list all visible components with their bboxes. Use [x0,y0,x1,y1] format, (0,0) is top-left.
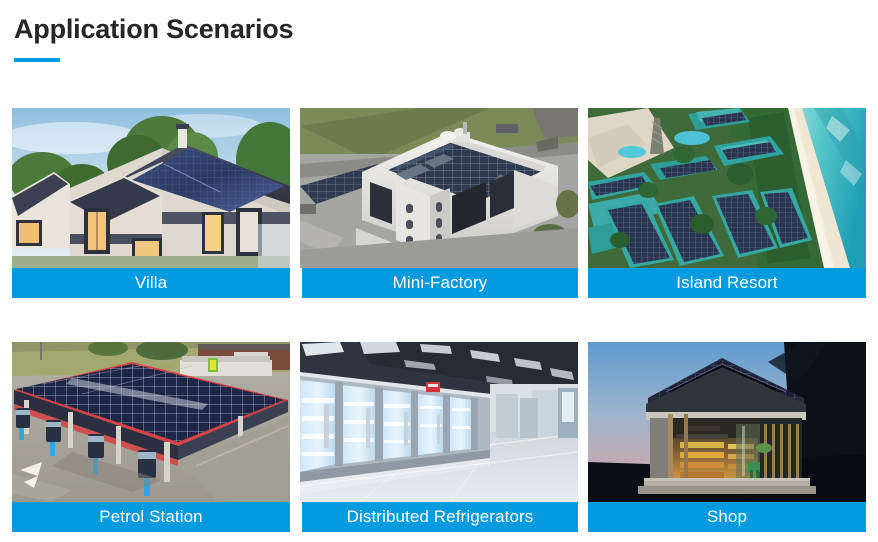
scenario-label-petrol-station: Petrol Station [12,502,290,532]
petrol-station-photo [12,342,290,502]
page-title: Application Scenarios [14,12,293,46]
scenario-card-island-resort[interactable]: Island Resort [588,108,866,298]
shop-photo [588,342,866,502]
scenario-row-2: Petrol Station [12,342,866,532]
section-heading: Application Scenarios [14,12,293,62]
distributed-refrigerators-photo [300,342,578,502]
scenario-card-villa[interactable]: Villa [12,108,290,298]
island-resort-photo [588,108,866,268]
scenario-label-shop: Shop [588,502,866,532]
scenario-card-distributed-refrigerators[interactable]: Distributed Refrigerators [300,342,578,532]
scenario-row-1: Villa [12,108,866,298]
title-underline-accent [14,58,60,62]
mini-factory-photo [300,108,578,268]
scenario-label-island-resort: Island Resort [588,268,866,298]
scenario-label-distributed-refrigerators: Distributed Refrigerators [302,502,578,532]
scenario-card-mini-factory[interactable]: Mini-Factory [300,108,578,298]
scenario-label-mini-factory: Mini-Factory [302,268,578,298]
scenario-card-petrol-station[interactable]: Petrol Station [12,342,290,532]
scenario-label-villa: Villa [12,268,290,298]
scenario-card-shop[interactable]: Shop [588,342,866,532]
villa-photo [12,108,290,268]
application-scenarios-section: Application Scenarios [0,0,878,542]
scenario-card-grid: Villa [12,108,866,532]
